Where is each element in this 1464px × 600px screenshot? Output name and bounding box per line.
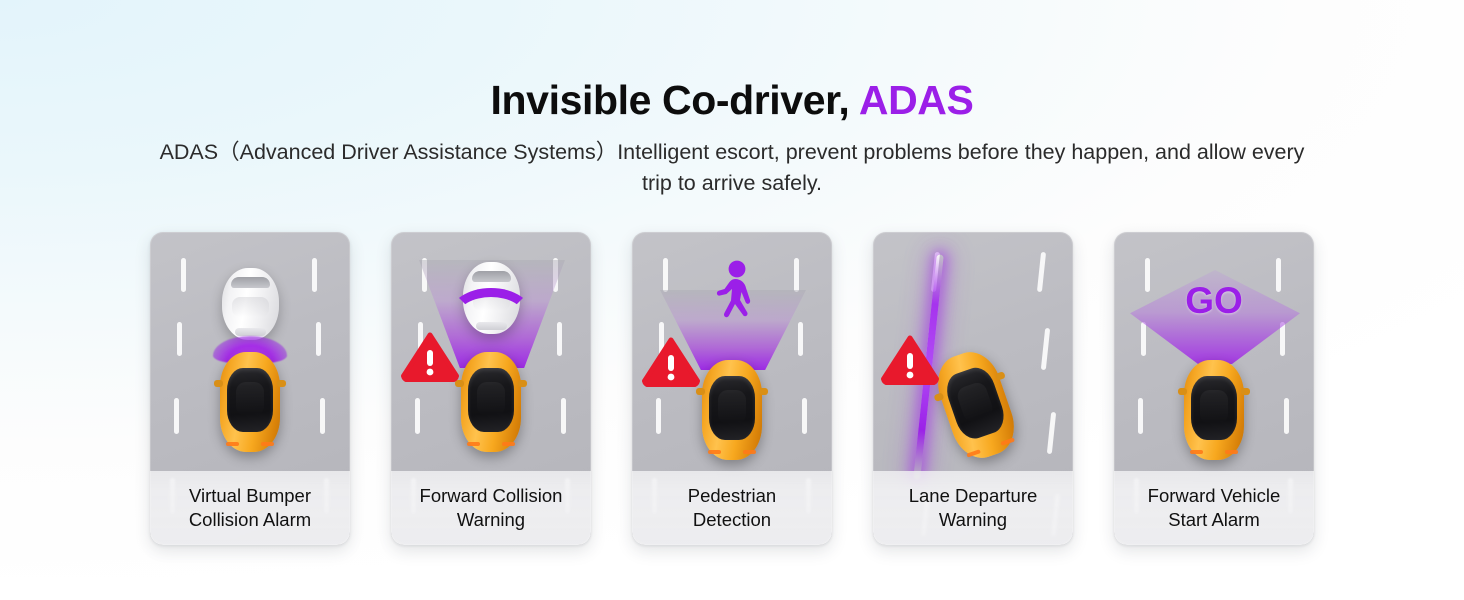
- warning-triangle-icon: [401, 332, 459, 382]
- card-label-line1: Lane Departure: [909, 484, 1038, 508]
- warning-triangle-icon: [642, 337, 700, 387]
- lane-marking: [794, 258, 799, 292]
- purple-smile-arc-icon: [449, 288, 533, 344]
- card-label-line2: Start Alarm: [1148, 508, 1281, 532]
- card-label-line1: Virtual Bumper: [189, 484, 311, 508]
- lane-marking: [316, 322, 321, 356]
- card-label-line1: Forward Collision: [420, 484, 563, 508]
- feature-card-virtual-bumper-collision-alarm[interactable]: Virtual Bumper Collision Alarm: [150, 232, 350, 545]
- feature-card-list: Virtual Bumper Collision Alarm: [0, 232, 1464, 545]
- card-label: Forward Vehicle Start Alarm: [1114, 471, 1314, 545]
- card-label: Forward Collision Warning: [391, 471, 591, 545]
- lane-marking: [320, 398, 325, 434]
- page-subtitle: ADAS（Advanced Driver Assistance Systems）…: [142, 137, 1322, 198]
- ego-vehicle-orange-car-icon: [702, 360, 762, 460]
- lane-marking: [181, 258, 186, 292]
- lane-marking: [1284, 398, 1289, 434]
- card-label-line1: Pedestrian: [688, 484, 776, 508]
- ego-vehicle-orange-car-icon: [461, 352, 521, 452]
- lane-marking: [557, 322, 562, 356]
- lane-marking: [1037, 252, 1046, 292]
- lane-marking: [1047, 412, 1056, 454]
- feature-card-forward-vehicle-start-alarm[interactable]: GO Forward Vehicle Start Alarm: [1114, 232, 1314, 545]
- page-title-accent: ADAS: [859, 77, 974, 123]
- card-label-line1: Forward Vehicle: [1148, 484, 1281, 508]
- lane-marking: [663, 258, 668, 292]
- card-label-line2: Warning: [909, 508, 1038, 532]
- feature-card-lane-departure-warning[interactable]: Lane Departure Warning: [873, 232, 1073, 545]
- card-label-line2: Collision Alarm: [189, 508, 311, 532]
- lane-marking: [177, 322, 182, 356]
- lane-marking: [798, 322, 803, 356]
- lane-marking: [1141, 322, 1146, 356]
- card-label-line2: Warning: [420, 508, 563, 532]
- pedestrian-icon: [710, 260, 762, 326]
- card-label: Pedestrian Detection: [632, 471, 832, 545]
- card-label: Lane Departure Warning: [873, 471, 1073, 545]
- card-label: Virtual Bumper Collision Alarm: [150, 471, 350, 545]
- lane-marking: [174, 398, 179, 434]
- ego-vehicle-orange-car-icon: [220, 352, 280, 452]
- page-subtitle-line1: ADAS（Advanced Driver Assistance Systems）…: [160, 140, 1149, 164]
- lane-marking: [1138, 398, 1143, 434]
- page-title-main: Invisible Co-driver,: [491, 77, 859, 123]
- page-header: Invisible Co-driver, ADAS ADAS（Advanced …: [0, 0, 1464, 198]
- go-label: GO: [1114, 280, 1314, 322]
- lane-marking: [561, 398, 566, 434]
- lane-marking: [656, 398, 661, 434]
- lane-marking: [312, 258, 317, 292]
- feature-card-pedestrian-detection[interactable]: Pedestrian Detection: [632, 232, 832, 545]
- card-label-line2: Detection: [688, 508, 776, 532]
- feature-card-forward-collision-warning[interactable]: Forward Collision Warning: [391, 232, 591, 545]
- lane-marking: [1041, 328, 1050, 370]
- page-title: Invisible Co-driver, ADAS: [0, 78, 1464, 123]
- ego-vehicle-orange-car-icon: [1184, 360, 1244, 460]
- lane-marking: [802, 398, 807, 434]
- warning-triangle-icon: [881, 335, 939, 385]
- lead-vehicle-white-car-icon: [222, 268, 279, 340]
- lane-marking: [415, 398, 420, 434]
